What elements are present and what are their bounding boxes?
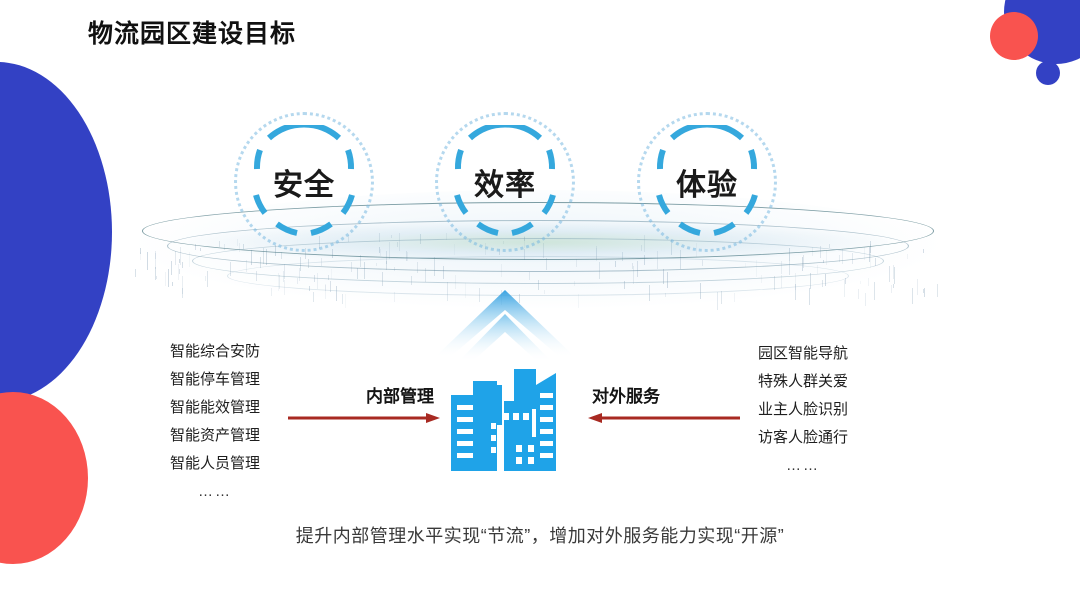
chevron-up-glow-icon [430, 288, 580, 370]
pillar-label: 效率 [435, 112, 575, 252]
list-item: 访客人脸通行 [758, 424, 848, 452]
pillar-efficiency[interactable]: 效率 [435, 112, 575, 252]
pillar-label: 体验 [637, 112, 777, 252]
list-item-ellipsis: …… [758, 452, 848, 480]
list-item: 智能人员管理 [170, 450, 260, 478]
pillar-safety[interactable]: 安全 [234, 112, 374, 252]
list-item: 园区智能导航 [758, 340, 848, 368]
list-item: 业主人脸识别 [758, 396, 848, 424]
internal-arrow-label: 内部管理 [366, 382, 434, 407]
list-item: 智能停车管理 [170, 366, 260, 394]
decor-dot-top-right-blue [1036, 61, 1060, 85]
slide-canvas: 物流园区建设目标 [0, 0, 1080, 608]
page-title: 物流园区建设目标 [88, 14, 296, 50]
arrow-right-icon [288, 412, 440, 424]
list-item-ellipsis: …… [170, 478, 260, 506]
pillar-label: 安全 [234, 112, 374, 252]
internal-capability-list: 智能综合安防 智能停车管理 智能能效管理 智能资产管理 智能人员管理 …… [170, 338, 260, 506]
decor-circle-top-right-red [990, 12, 1038, 60]
list-item: 特殊人群关爱 [758, 368, 848, 396]
external-service-list: 园区智能导航 特殊人群关爱 业主人脸识别 访客人脸通行 …… [758, 340, 848, 480]
list-item: 智能能效管理 [170, 394, 260, 422]
external-arrow-label: 对外服务 [592, 382, 660, 407]
slide-caption: 提升内部管理水平实现“节流”，增加对外服务能力实现“开源” [0, 522, 1080, 548]
list-item: 智能综合安防 [170, 338, 260, 366]
list-item: 智能资产管理 [170, 422, 260, 450]
internal-management-arrow-group: 内部管理 [288, 382, 440, 428]
arrow-left-icon [588, 412, 740, 424]
pillar-group: 安全 效率 [0, 112, 1080, 257]
external-service-arrow-group: 对外服务 [588, 382, 740, 428]
city-buildings-icon [448, 363, 562, 475]
pillar-experience[interactable]: 体验 [637, 112, 777, 252]
